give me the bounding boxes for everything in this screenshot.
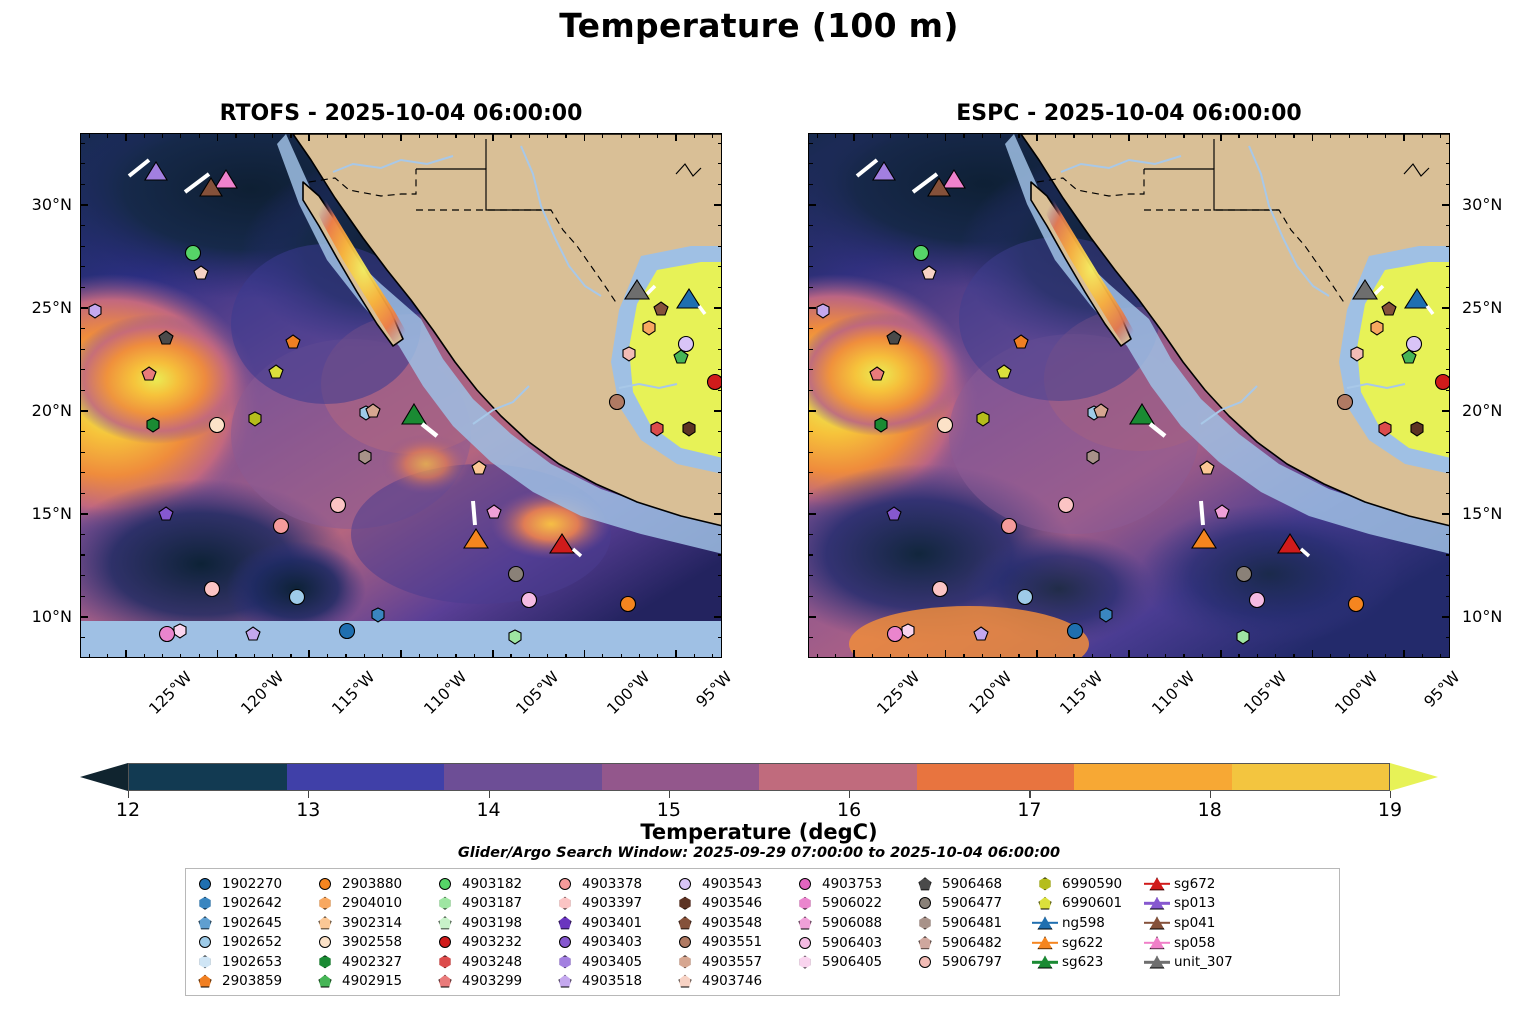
legend-item-label: 4903397 [582,895,642,911]
y-axis-minor-tick [808,431,813,432]
x-axis-minor-tick [1073,654,1074,659]
y-axis-minor-tick [80,452,85,453]
x-axis-label: 125°W [145,668,195,718]
legend-item-label: 4903551 [702,934,762,950]
x-axis-minor-tick [1092,654,1093,659]
legend-marker-tri-icon [1032,954,1058,970]
legend-item[interactable]: 2903859 [192,972,310,992]
y-axis-label: 10°N [1462,607,1502,626]
legend-item[interactable]: sg672 [1144,874,1254,894]
legend-item[interactable]: 1902642 [192,894,310,914]
legend-marker-tri-icon [1032,915,1058,931]
x-axis-minor-tick [199,133,200,138]
legend-marker-circle-icon [792,935,818,951]
legend-marker-circle-icon [312,934,338,950]
legend-marker-hex-icon [552,954,578,970]
legend-marker-shape [919,877,932,890]
x-axis-label: 100°W [604,668,654,718]
legend-item-label: 4903543 [702,876,762,892]
legend-item-label: sp013 [1174,895,1215,911]
x-axis-minor-tick [1055,133,1056,138]
y-axis-minor-tick [718,287,723,288]
legend-marker-shape [679,916,692,929]
legend-item-label: 4903198 [462,915,522,931]
x-axis-minor-tick [199,654,200,659]
y-axis-minor-tick [718,452,723,453]
legend-item[interactable]: 5906797 [912,952,1030,972]
legend-marker-pent-icon [672,973,698,989]
x-axis-minor-tick [657,133,658,138]
legend-marker-shape [559,975,572,988]
x-axis-tick [853,133,855,141]
legend-item-label: sg672 [1174,876,1215,892]
x-axis-minor-tick [89,654,90,659]
y-axis-minor-tick [808,328,813,329]
x-axis-minor-tick [621,654,622,659]
legend-marker-hex-icon [1032,876,1058,892]
x-axis-tick [217,650,219,658]
x-axis-minor-tick [1349,654,1350,659]
legend-item-label: 6990601 [1062,895,1122,911]
x-axis-minor-tick [529,133,530,138]
legend-marker-shape [919,936,932,949]
legend-item[interactable]: 4903543 [672,874,790,894]
legend-marker-shape [199,897,212,910]
legend-marker-pent-icon [432,973,458,989]
x-axis-minor-tick [1018,133,1019,138]
x-axis-tick [675,650,677,658]
legend-marker-circle-icon [432,876,458,892]
y-axis-minor-tick [808,472,813,473]
x-axis-minor-tick [327,654,328,659]
y-axis-minor-tick [1446,225,1451,226]
y-axis-minor-tick [1446,554,1451,555]
x-axis-minor-tick [1275,133,1276,138]
y-axis-tick [808,204,816,206]
legend-marker-shape [679,955,692,968]
legend-marker-pent-icon [192,973,218,989]
x-axis-minor-tick [890,133,891,138]
y-axis-minor-tick [80,534,85,535]
x-axis-minor-tick [235,654,236,659]
legend-item[interactable]: 4903518 [552,972,670,992]
y-axis-minor-tick [808,246,813,247]
legend-marker-shape [319,936,331,948]
legend-item[interactable]: 1902652 [192,933,310,953]
y-axis-minor-tick [1446,452,1451,453]
legend-item[interactable]: 4903551 [672,933,790,953]
legend-item[interactable]: sg623 [1032,952,1142,972]
legend-marker-shape [439,955,452,968]
legend-item[interactable]: 4903753 [792,874,910,894]
y-axis-minor-tick [718,596,723,597]
x-axis-label: 120°W [237,668,287,718]
y-axis-minor-tick [1446,472,1451,473]
legend-column-7: 69905906990601ng598sg622sg623 [1032,874,1142,991]
legend-marker-pent-icon [1032,895,1058,911]
legend-item[interactable]: 1902645 [192,913,310,933]
legend-item-label: 5906797 [942,954,1002,970]
legend-item-label: 4903187 [462,895,522,911]
y-axis-minor-tick [808,349,813,350]
map-panel-rtofs[interactable] [80,133,722,658]
colorbar[interactable]: 1213141516171819 [80,763,1438,791]
legend-item-label: 4903548 [702,915,762,931]
legend-marker-hex-icon [912,915,938,931]
x-axis-tick [1220,133,1222,141]
x-axis-minor-tick [1440,654,1441,659]
y-axis-tick [80,513,88,515]
colorbar-segment-3 [602,764,760,790]
legend-marker-shape [919,897,931,909]
legend-marker-hex-icon [312,954,338,970]
x-axis-minor-tick [1440,133,1441,138]
y-axis-minor-tick [808,163,813,164]
legend-column-4: 4903543490354649035484903551490355749037… [672,874,790,991]
legend-item[interactable]: 4903248 [432,952,550,972]
x-axis-minor-tick [419,133,420,138]
legend-marker-shape [799,916,812,929]
x-axis-minor-tick [963,654,964,659]
x-axis-minor-tick [144,133,145,138]
x-axis-minor-tick [364,133,365,138]
legend-marker-pent-icon [912,876,938,892]
y-axis-minor-tick [718,369,723,370]
y-axis-minor-tick [1446,328,1451,329]
map-canvas-rtofs [81,134,721,657]
x-axis-tick [584,133,586,141]
x-axis-minor-tick [474,133,475,138]
y-axis-minor-tick [80,143,85,144]
legend-item-label: 5906477 [942,895,1002,911]
y-axis-minor-tick [808,575,813,576]
x-axis-minor-tick [1147,654,1148,659]
legend-marker-circle-icon [672,876,698,892]
legend-marker-shape [799,897,812,910]
legend-item-label: 2904010 [342,895,402,911]
x-axis-minor-tick [162,133,163,138]
legend-marker-pent-icon [312,915,338,931]
legend-marker-circle-icon [912,895,938,911]
x-axis-tick [400,650,402,658]
platform-legend[interactable]: 1902270190264219026451902652190265329038… [185,868,1340,996]
legend-item-label: unit_307 [1174,954,1233,970]
legend-marker-shape [799,956,812,969]
legend-item-label: 5906405 [822,954,882,970]
x-axis-minor-tick [180,133,181,138]
x-axis-minor-tick [272,654,273,659]
search-window-text: Glider/Argo Search Window: 2025-09-29 07… [0,845,1518,861]
y-axis-minor-tick [1446,575,1451,576]
y-axis-minor-tick [718,184,723,185]
x-axis-minor-tick [602,654,603,659]
legend-marker-shape [679,878,691,890]
legend-marker-shape [199,955,212,968]
legend-item-label: 5906088 [822,915,882,931]
legend-marker-shape [799,878,811,890]
legend-item[interactable]: 4902915 [312,972,430,992]
y-axis-minor-tick [808,143,813,144]
legend-item[interactable]: 4903403 [552,933,670,953]
y-axis-minor-tick [808,596,813,597]
x-axis-minor-tick [510,654,511,659]
y-axis-label: 30°N [1462,195,1502,214]
y-axis-minor-tick [80,390,85,391]
x-axis-label: 110°W [420,668,470,718]
legend-item-label: 4903405 [582,954,642,970]
legend-marker-hex-icon [672,954,698,970]
x-axis-minor-tick [712,133,713,138]
x-axis-minor-tick [290,133,291,138]
x-axis-minor-tick [437,133,438,138]
y-axis-label: 15°N [1462,504,1502,523]
legend-item[interactable]: 4903548 [672,913,790,933]
legend-item[interactable]: 3902558 [312,933,430,953]
legend-item[interactable]: 2904010 [312,894,430,914]
x-axis-label: 105°W [512,668,562,718]
x-axis-label: 95°W [1421,668,1464,711]
x-axis-tick [400,133,402,141]
legend-item[interactable]: 4903405 [552,952,670,972]
x-axis-tick [1036,133,1038,141]
x-axis-minor-tick [162,654,163,659]
legend-marker-shape [439,878,451,890]
x-axis-tick [1036,650,1038,658]
legend-item[interactable]: unit_307 [1144,952,1254,972]
colorbar-extend-over [1390,763,1438,791]
legend-item[interactable]: 4903187 [432,894,550,914]
legend-item[interactable]: 5906405 [792,952,910,972]
y-axis-minor-tick [718,390,723,391]
legend-marker-shape [319,955,332,968]
legend-item-label: 4903546 [702,895,762,911]
map-canvas-espc [809,134,1449,657]
panel-title-espc: ESPC - 2025-10-04 06:00:00 [808,101,1450,126]
legend-item[interactable]: 5906468 [912,874,1030,894]
x-axis-tick [1403,650,1405,658]
colorbar-extend-under [80,763,128,791]
panel-title-rtofs: RTOFS - 2025-10-04 06:00:00 [80,101,722,126]
legend-item[interactable]: 4903397 [552,894,670,914]
x-axis-tick [308,650,310,658]
legend-marker-hex-icon [432,895,458,911]
x-axis-tick [584,650,586,658]
y-axis-tick [808,616,816,618]
y-axis-minor-tick [718,493,723,494]
x-axis-label: 115°W [1057,668,1107,718]
legend-item[interactable]: 5906482 [912,933,1030,953]
x-axis-minor-tick [1092,133,1093,138]
legend-item[interactable]: sp041 [1144,913,1254,933]
y-axis-minor-tick [80,349,85,350]
y-axis-label: 20°N [0,401,72,420]
legend-item-label: 5906022 [822,895,882,911]
legend-item[interactable]: 4903182 [432,874,550,894]
y-axis-minor-tick [1446,349,1451,350]
y-axis-label: 15°N [0,504,72,523]
legend-item[interactable]: 3902314 [312,913,430,933]
x-axis-minor-tick [1202,133,1203,138]
x-axis-tick [492,650,494,658]
x-axis-tick [217,133,219,141]
x-axis-minor-tick [712,654,713,659]
y-axis-minor-tick [718,328,723,329]
legend-marker-pent-icon [792,915,818,931]
x-axis-minor-tick [510,133,511,138]
legend-item[interactable]: 4903746 [672,972,790,992]
x-axis-minor-tick [180,654,181,659]
y-axis-minor-tick [80,472,85,473]
legend-item-label: 4903299 [462,973,522,989]
y-axis-minor-tick [1446,246,1451,247]
legend-item[interactable]: 4903401 [552,913,670,933]
y-axis-tick [1442,204,1450,206]
legend-item[interactable]: 4903378 [552,874,670,894]
legend-item-label: 4903753 [822,876,882,892]
legend-item[interactable]: 1902270 [192,874,310,894]
x-axis-minor-tick [235,133,236,138]
x-axis-minor-tick [872,133,873,138]
legend-item[interactable]: 6990601 [1032,894,1142,914]
legend-marker-shape [439,975,452,988]
x-axis-minor-tick [657,654,658,659]
x-axis-minor-tick [639,654,640,659]
y-axis-minor-tick [808,534,813,535]
legend-marker-pent-icon [912,935,938,951]
x-axis-minor-tick [419,654,420,659]
y-axis-minor-tick [718,163,723,164]
legend-column-6: 59064685906477590648159064825906797 [912,874,1030,991]
legend-marker-circle-icon [912,954,938,970]
legend-item-label: 5906482 [942,935,1002,951]
x-axis-minor-tick [254,133,255,138]
x-axis-tick [492,133,494,141]
y-axis-tick [808,513,816,515]
y-axis-minor-tick [1446,369,1451,370]
y-axis-tick [80,616,88,618]
legend-item[interactable]: 4903299 [432,972,550,992]
y-axis-minor-tick [718,472,723,473]
legend-item-label: sg623 [1062,954,1103,970]
y-axis-tick [80,307,88,309]
legend-item[interactable]: 1902653 [192,952,310,972]
x-axis-minor-tick [963,133,964,138]
legend-item[interactable]: 4902327 [312,952,430,972]
legend-marker-shape [319,897,332,910]
x-axis-tick [125,650,127,658]
platform-markers-espc[interactable] [809,134,1449,657]
legend-item[interactable]: 4903232 [432,933,550,953]
y-axis-minor-tick [80,225,85,226]
legend-item[interactable]: sg622 [1032,933,1142,953]
x-axis-minor-tick [364,654,365,659]
legend-marker-shape [679,897,692,910]
x-axis-minor-tick [890,654,891,659]
legend-item[interactable]: 4903546 [672,894,790,914]
legend-marker-shape [799,937,811,949]
legend-item-label: 6990590 [1062,876,1122,892]
legend-item[interactable]: 2903880 [312,874,430,894]
legend-item-label: 1902653 [222,954,282,970]
y-axis-minor-tick [718,266,723,267]
platform-markers-rtofs[interactable] [81,134,721,657]
x-axis-minor-tick [1000,654,1001,659]
y-axis-minor-tick [80,554,85,555]
legend-marker-circle-icon [792,876,818,892]
legend-marker-hex-icon [672,895,698,911]
legend-item-label: 1902645 [222,915,282,931]
x-axis-minor-tick [107,654,108,659]
legend-item[interactable]: 5906088 [792,913,910,933]
legend-marker-tri-icon [1144,954,1170,970]
x-axis-tick [1312,133,1314,141]
legend-marker-hex-icon [192,895,218,911]
x-axis-minor-tick [694,133,695,138]
y-axis-minor-tick [80,575,85,576]
x-axis-minor-tick [547,654,548,659]
x-axis-minor-tick [565,133,566,138]
legend-column-1: 2903880290401039023143902558490232749029… [312,874,430,991]
x-axis-minor-tick [474,654,475,659]
legend-marker-shape [439,936,451,948]
x-axis-minor-tick [1183,654,1184,659]
legend-item[interactable]: 5906481 [912,913,1030,933]
x-axis-minor-tick [1349,133,1350,138]
legend-marker-shape [679,936,691,948]
legend-marker-shape [319,975,332,988]
legend-item[interactable]: 5906403 [792,933,910,953]
x-axis-minor-tick [1018,654,1019,659]
legend-item[interactable]: sp058 [1144,933,1254,953]
x-axis-minor-tick [602,133,603,138]
colorbar-tick-label: 13 [296,799,320,821]
y-axis-minor-tick [80,287,85,288]
x-axis-minor-tick [908,654,909,659]
legend-marker-tri-icon [1144,876,1170,892]
colorbar-tick [849,791,850,798]
y-axis-minor-tick [718,575,723,576]
y-axis-minor-tick [808,225,813,226]
y-axis-minor-tick [80,369,85,370]
x-axis-minor-tick [927,133,928,138]
legend-item[interactable]: 5906022 [792,894,910,914]
legend-marker-hex-icon [312,895,338,911]
legend-item[interactable]: 4903198 [432,913,550,933]
y-axis-tick [80,204,88,206]
legend-item[interactable]: sp013 [1144,894,1254,914]
legend-item[interactable]: 5906477 [912,894,1030,914]
legend-marker-shape [199,878,211,890]
colorbar-gradient[interactable] [128,763,1390,791]
legend-item[interactable]: 6990590 [1032,874,1142,894]
legend-marker-hex-icon [792,895,818,911]
x-axis-minor-tick [290,654,291,659]
x-axis-minor-tick [835,133,836,138]
legend-item-label: sp058 [1174,935,1215,951]
x-axis-minor-tick [144,654,145,659]
map-panel-espc[interactable] [808,133,1450,658]
x-axis-minor-tick [621,133,622,138]
y-axis-tick [714,410,722,412]
x-axis-minor-tick [982,133,983,138]
legend-marker-shape [559,955,572,968]
x-axis-minor-tick [1183,133,1184,138]
legend-marker-shape [1039,897,1052,910]
legend-item[interactable]: ng598 [1032,913,1142,933]
y-axis-minor-tick [808,287,813,288]
colorbar-segment-5 [917,764,1075,790]
legend-item[interactable]: 4903557 [672,952,790,972]
